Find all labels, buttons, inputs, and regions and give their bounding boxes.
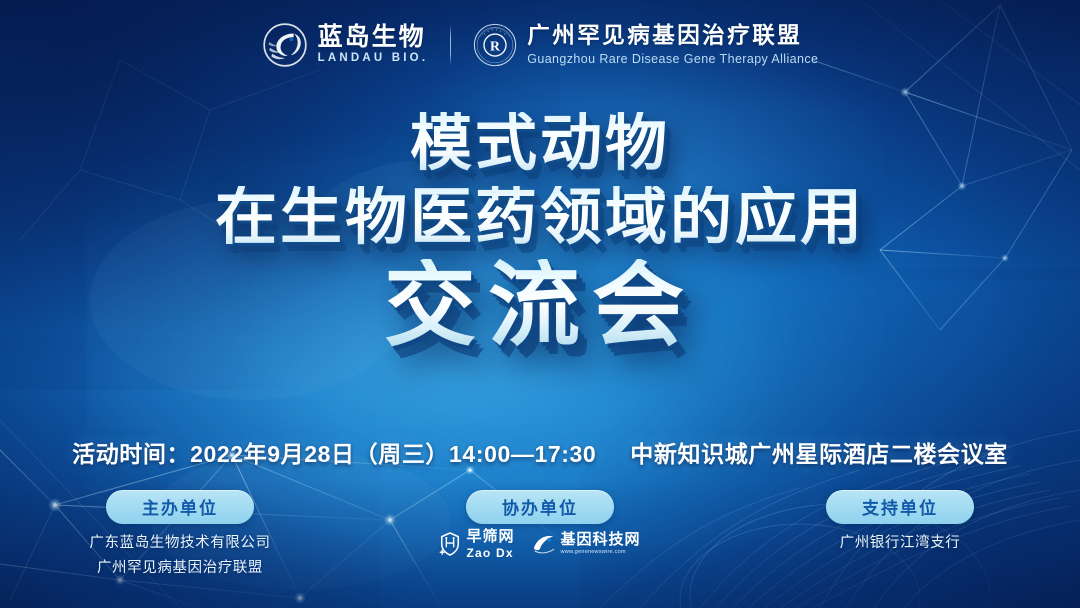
landau-bio-name-en: LANDAU BIO. [318, 53, 429, 65]
landau-bio-logo: 蓝岛生物 LANDAU BIO. [262, 22, 429, 68]
organizer-name-2: 广州罕见病基因治疗联盟 [97, 558, 263, 579]
event-venue: 中新知识城广州星际酒店二楼会议室 [630, 435, 1008, 469]
rare-disease-alliance-logo: R 广州罕见病基因治疗联盟 Guangzhou Rare Disease Gen… [473, 23, 818, 67]
header-logo-bar: 蓝岛生物 LANDAU BIO. R 广州罕见病基因治疗联盟 [0, 22, 1080, 68]
title-line-1: 模式动物 [0, 112, 1080, 176]
supporter-names: 广州银行江湾支行 [840, 533, 961, 554]
landau-bio-logo-text: 蓝岛生物 LANDAU BIO. [318, 25, 429, 65]
zaodx-name-cn: 早筛网 [466, 529, 514, 544]
supporter-name-1: 广州银行江湾支行 [840, 533, 961, 554]
title-line-3: 交流会 [0, 259, 1080, 355]
zaodx-name-en: Zao Dx [466, 547, 514, 559]
svg-text:R: R [490, 39, 501, 54]
rare-disease-alliance-logo-text: 广州罕见病基因治疗联盟 Guangzhou Rare Disease Gene … [527, 25, 818, 65]
sponsor-column-supporter: 支持单位 广州银行江湾支行 [720, 490, 1080, 600]
title-line-2: 在生物医药领域的应用 [0, 186, 1080, 250]
genenewswire-logo-text: 基因科技网 www.genenewswire.com [561, 532, 641, 556]
organizer-name-1: 广东蓝岛生物技术有限公司 [89, 533, 270, 554]
landau-bio-name-cn: 蓝岛生物 [318, 25, 429, 50]
event-datetime: 活动时间：2022年9月28日（周三）14:00—17:30 [72, 435, 596, 469]
genenewswire-wave-logo-icon [532, 533, 556, 555]
header-divider [450, 24, 451, 66]
genenewswire-name-cn: 基因科技网 [561, 532, 641, 547]
status-badge-organizer: 主办单位 [106, 490, 254, 524]
page-title: 模式动物 在生物医药领域的应用 交流会 [0, 112, 1080, 355]
status-badge-co-organizer: 协办单位 [466, 490, 614, 524]
zaodx-logo: 早筛网 Zao Dx [439, 529, 514, 559]
organizer-names: 广东蓝岛生物技术有限公司 广州罕见病基因治疗联盟 [89, 533, 270, 579]
co-organizer-logos: 早筛网 Zao Dx 基因科技网 www.genenewswire.com [439, 529, 640, 559]
event-info-line: 活动时间：2022年9月28日（周三）14:00—17:30 中新知识城广州星际… [0, 435, 1080, 469]
sponsor-column-organizer: 主办单位 广东蓝岛生物技术有限公司 广州罕见病基因治疗联盟 [0, 490, 360, 600]
landau-fish-globe-logo-icon [262, 22, 308, 68]
genenewswire-logo: 基因科技网 www.genenewswire.com [532, 532, 641, 556]
sponsor-column-co-organizer: 协办单位 早筛网 Zao Dx [360, 490, 720, 600]
event-poster: 蓝岛生物 LANDAU BIO. R 广州罕见病基因治疗联盟 [0, 0, 1080, 608]
alliance-name-en: Guangzhou Rare Disease Gene Therapy Alli… [527, 53, 818, 66]
status-badge-supporter: 支持单位 [826, 490, 974, 524]
alliance-name-cn: 广州罕见病基因治疗联盟 [527, 25, 818, 48]
sponsor-section: 主办单位 广东蓝岛生物技术有限公司 广州罕见病基因治疗联盟 协办单位 [0, 490, 1080, 600]
zaodx-shield-logo-icon [439, 531, 461, 557]
zaodx-logo-text: 早筛网 Zao Dx [466, 529, 514, 559]
genenewswire-url: www.genenewswire.com [561, 550, 641, 556]
alliance-seal-r-logo-icon: R [473, 23, 517, 67]
